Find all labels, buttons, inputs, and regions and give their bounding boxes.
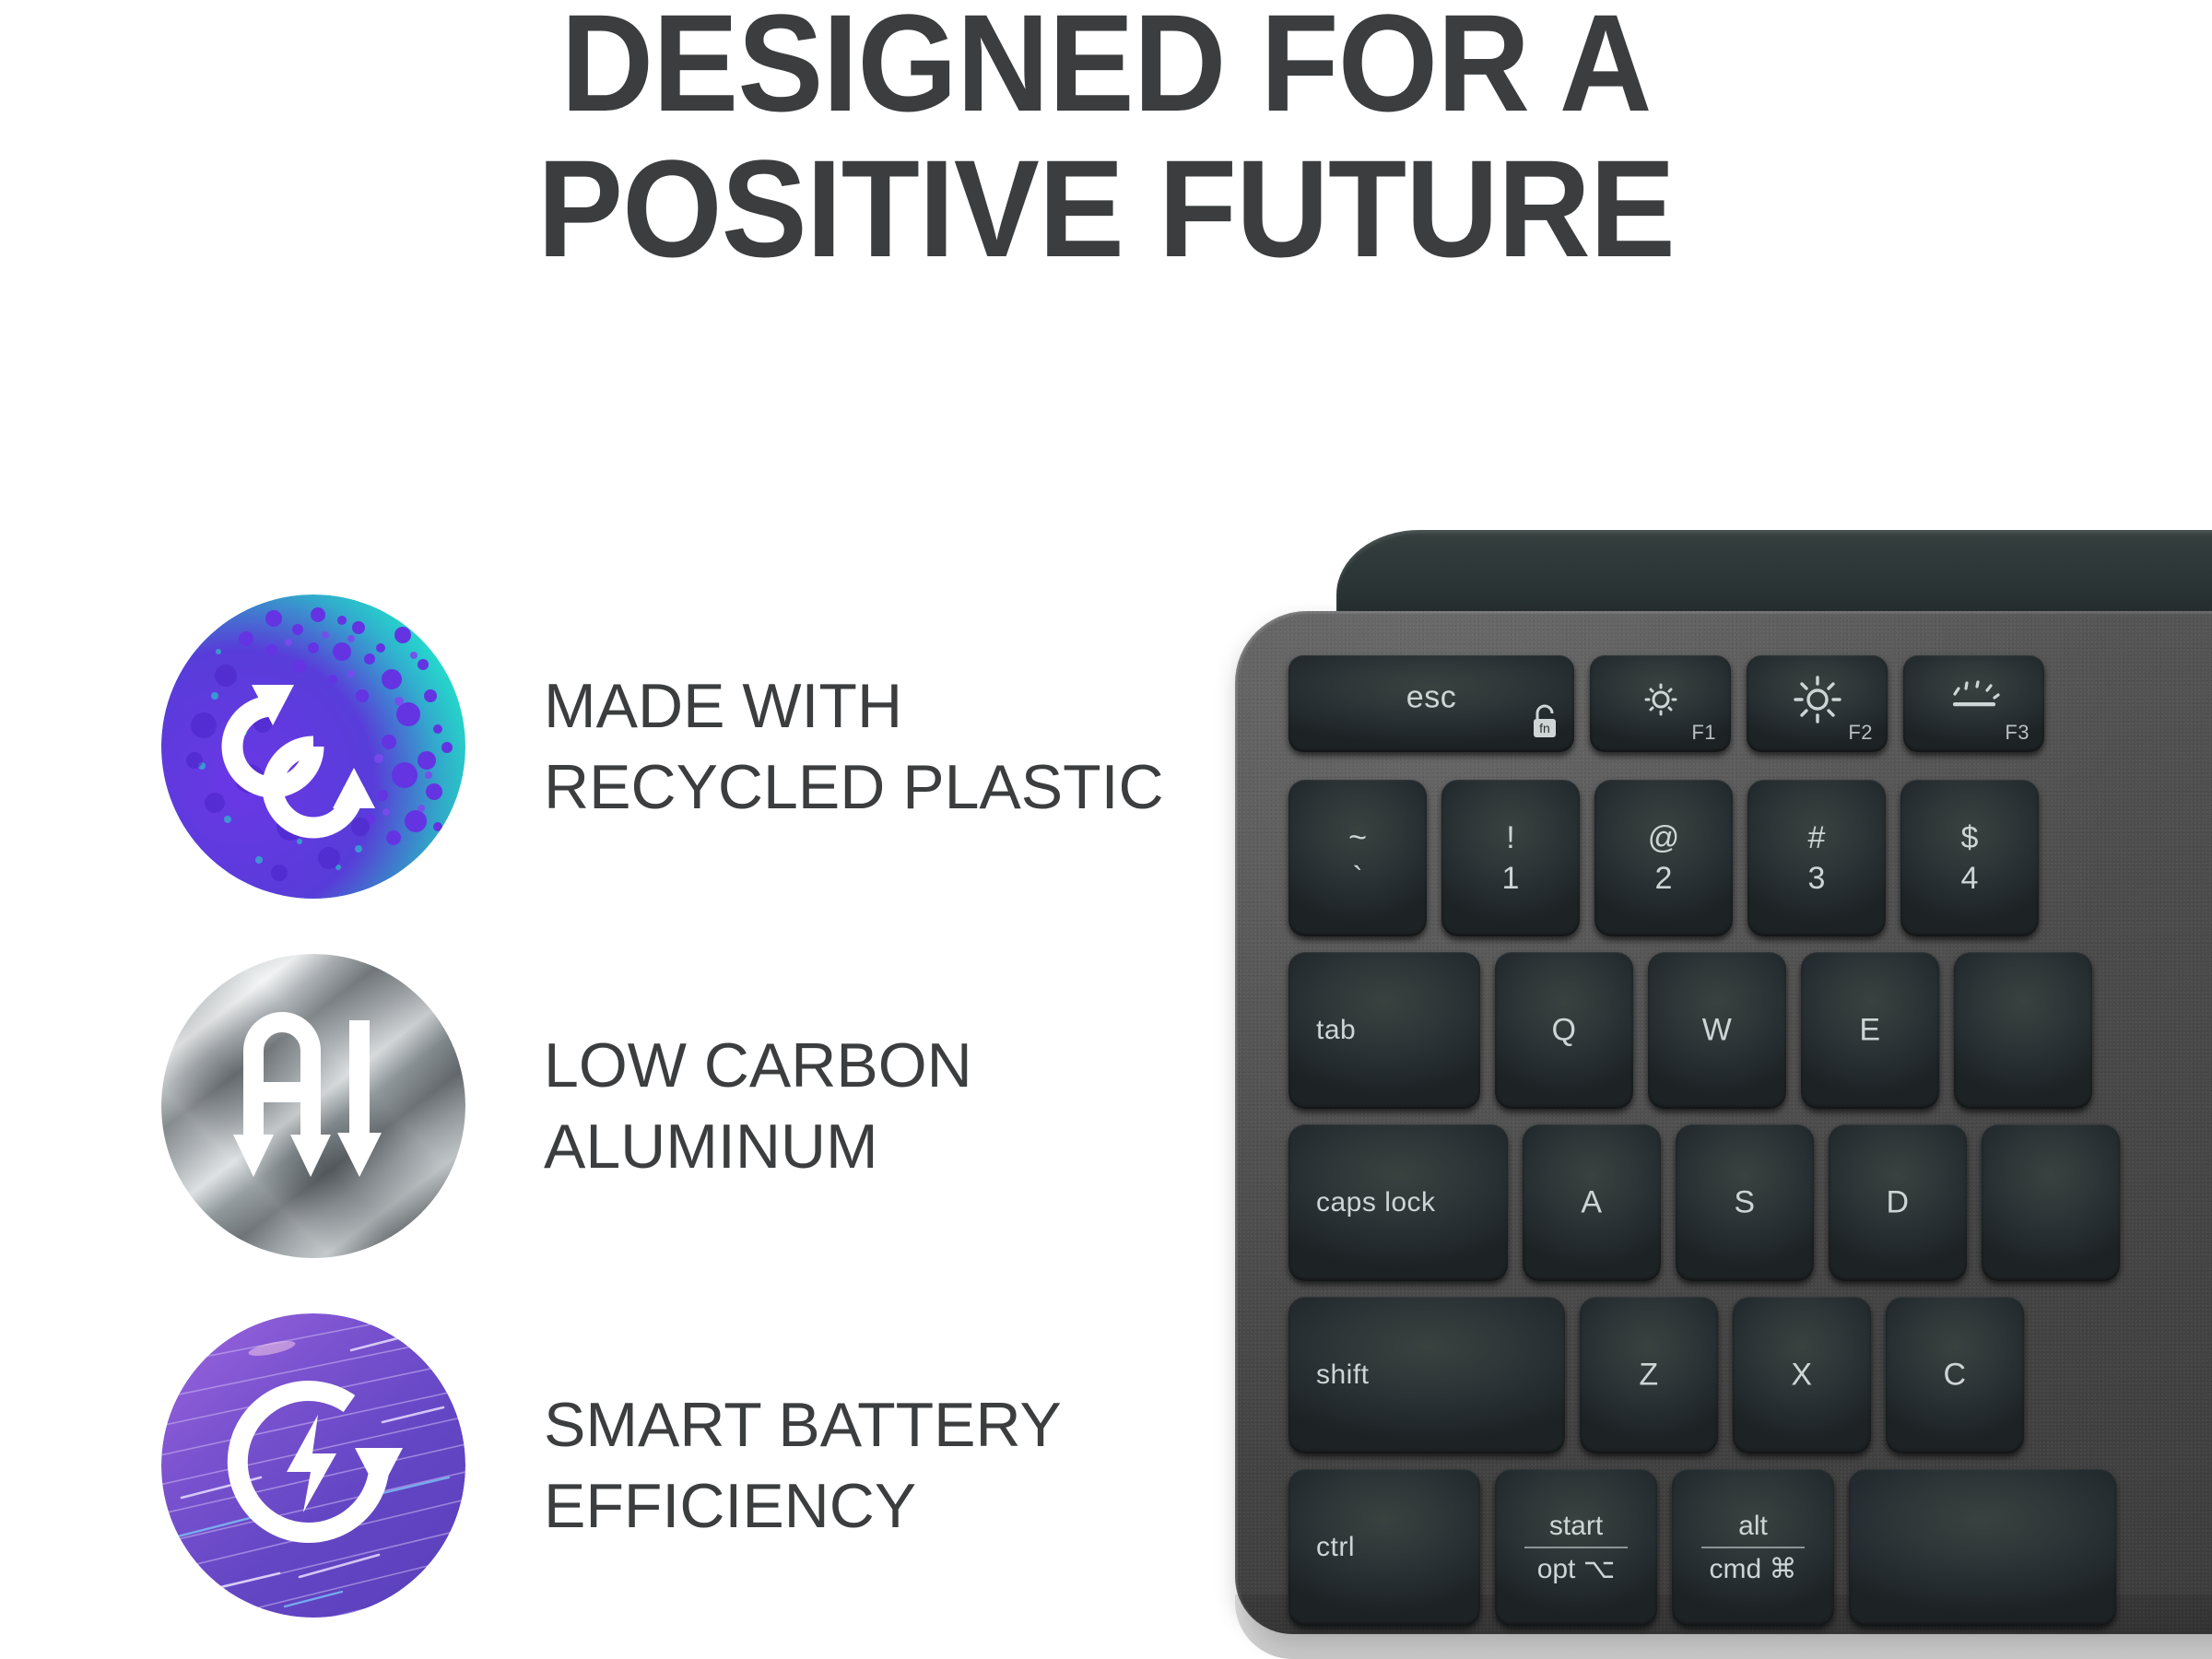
feature-item-smart-battery-efficiency: SMART BATTERY EFFICIENCY (161, 1313, 1194, 1618)
key-divider (1701, 1547, 1806, 1548)
key-f3[interactable]: F3 (1903, 655, 2044, 752)
al-down-arrow-glyph (161, 954, 465, 1258)
svg-text:fn: fn (1539, 721, 1550, 735)
key-f[interactable] (1982, 1124, 2120, 1281)
key-spacebar[interactable] (1849, 1469, 2116, 1626)
feature-label-recycled-plastic: MADE WITH RECYCLED PLASTIC (544, 665, 1164, 829)
key-s[interactable]: S (1676, 1124, 1814, 1281)
feature-label-low-carbon-aluminum: LOW CARBON ALUMINUM (544, 1025, 972, 1188)
key-4[interactable]: $ 4 (1900, 780, 2039, 936)
key-esc[interactable]: esc fn (1288, 655, 1574, 752)
key-q[interactable]: Q (1495, 952, 1633, 1109)
key-caps-lock[interactable]: caps lock (1288, 1124, 1508, 1281)
key-start-opt[interactable]: start opt ⌥ (1495, 1469, 1657, 1626)
feature-item-low-carbon-aluminum: LOW CARBON ALUMINUM (161, 954, 1194, 1258)
brightness-up-icon (1790, 672, 1845, 727)
feature-label-smart-battery-efficiency: SMART BATTERY EFFICIENCY (544, 1384, 1062, 1547)
feature-list: MADE WITH RECYCLED PLASTIC (161, 594, 1194, 1618)
key-3[interactable]: # 3 (1747, 780, 1886, 936)
key-shift[interactable]: shift (1288, 1297, 1565, 1453)
key-c[interactable]: C (1886, 1297, 2024, 1453)
key-ctrl[interactable]: ctrl (1288, 1469, 1480, 1626)
refresh-bolt-glyph (161, 1313, 465, 1618)
key-alt-cmd[interactable]: alt cmd ⌘ (1672, 1469, 1834, 1626)
key-r[interactable] (1954, 952, 2092, 1109)
key-w[interactable]: W (1648, 952, 1786, 1109)
key-tilde[interactable]: ~ ` (1288, 780, 1427, 936)
key-z[interactable]: Z (1580, 1297, 1718, 1453)
keyboard-backlight-icon (1946, 677, 2003, 722)
battery-refresh-bolt-icon (161, 1313, 465, 1618)
keyboard-product-image: esc fn F1 (1235, 530, 2212, 1659)
recycle-loop-icon (161, 594, 465, 899)
fn-lock-badge-icon: fn (1526, 702, 1563, 745)
aluminum-al-down-arrows-icon (161, 954, 465, 1258)
key-tab[interactable]: tab (1288, 952, 1480, 1109)
key-d[interactable]: D (1829, 1124, 1967, 1281)
key-a[interactable]: A (1523, 1124, 1661, 1281)
brightness-down-icon (1637, 676, 1685, 724)
key-e[interactable]: E (1801, 952, 1939, 1109)
page-title: DESIGNED FOR A POSITIVE FUTURE (77, 0, 2135, 281)
headline-line-1: DESIGNED FOR A (77, 0, 2135, 136)
key-1[interactable]: ! 1 (1441, 780, 1580, 936)
product-feature-panel: DESIGNED FOR A POSITIVE FUTURE (0, 0, 2212, 1659)
key-2[interactable]: @ 2 (1594, 780, 1733, 936)
feature-item-recycled-plastic: MADE WITH RECYCLED PLASTIC (161, 594, 1194, 899)
recycle-arrows-glyph (161, 594, 465, 899)
keyboard-keys: esc fn F1 (1235, 611, 2212, 1634)
key-f2[interactable]: F2 (1747, 655, 1888, 752)
headline-line-2: POSITIVE FUTURE (77, 136, 2135, 282)
key-x[interactable]: X (1733, 1297, 1871, 1453)
key-f1[interactable]: F1 (1590, 655, 1731, 752)
key-divider (1524, 1547, 1629, 1548)
